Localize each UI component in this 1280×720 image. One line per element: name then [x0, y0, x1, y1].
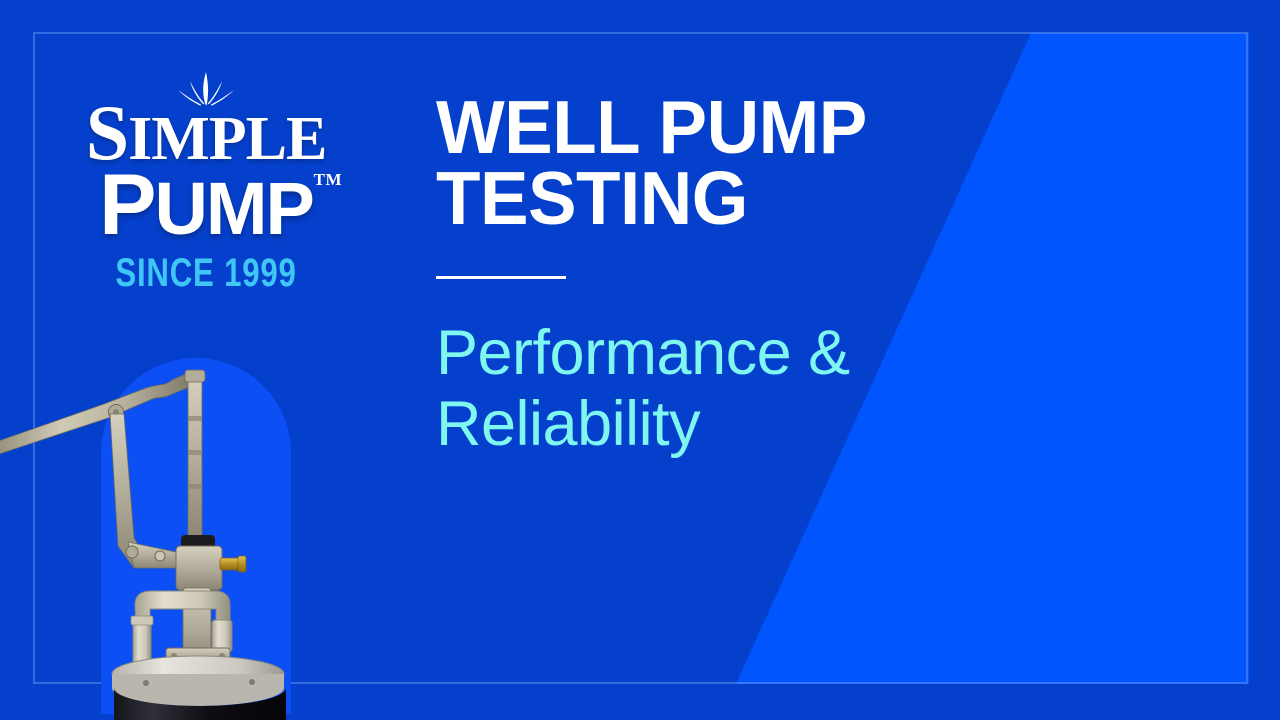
trademark-symbol: TM: [314, 170, 342, 190]
logo-word-pump: PUMP TM: [76, 166, 336, 245]
pump-rod: [185, 370, 205, 538]
logo-simple-rest: IMPLE: [128, 105, 326, 173]
well-pump-illustration: [0, 330, 340, 720]
pump-photo: [0, 330, 340, 720]
pump-lever-arm: [110, 414, 180, 568]
logo-tagline: SINCE 1999: [105, 253, 308, 293]
brass-fitting: [220, 558, 240, 570]
slide-canvas: SIMPLE PUMP TM SINCE 1999 WELL PUMP TEST…: [0, 0, 1280, 720]
brand-logo: SIMPLE PUMP TM SINCE 1999: [76, 78, 336, 293]
water-spray-icon: [171, 72, 241, 112]
headline-block: WELL PUMP TESTING Performance & Reliabil…: [436, 92, 1076, 459]
pump-handle-lever: [0, 372, 192, 457]
logo-pump-rest: UMP: [154, 167, 312, 250]
well-cap: [112, 656, 284, 706]
title-divider: [436, 276, 566, 279]
page-title: WELL PUMP TESTING: [436, 92, 1057, 233]
logo-pump-initial: P: [99, 157, 154, 253]
page-subtitle: Performance & Reliability: [436, 318, 1076, 459]
